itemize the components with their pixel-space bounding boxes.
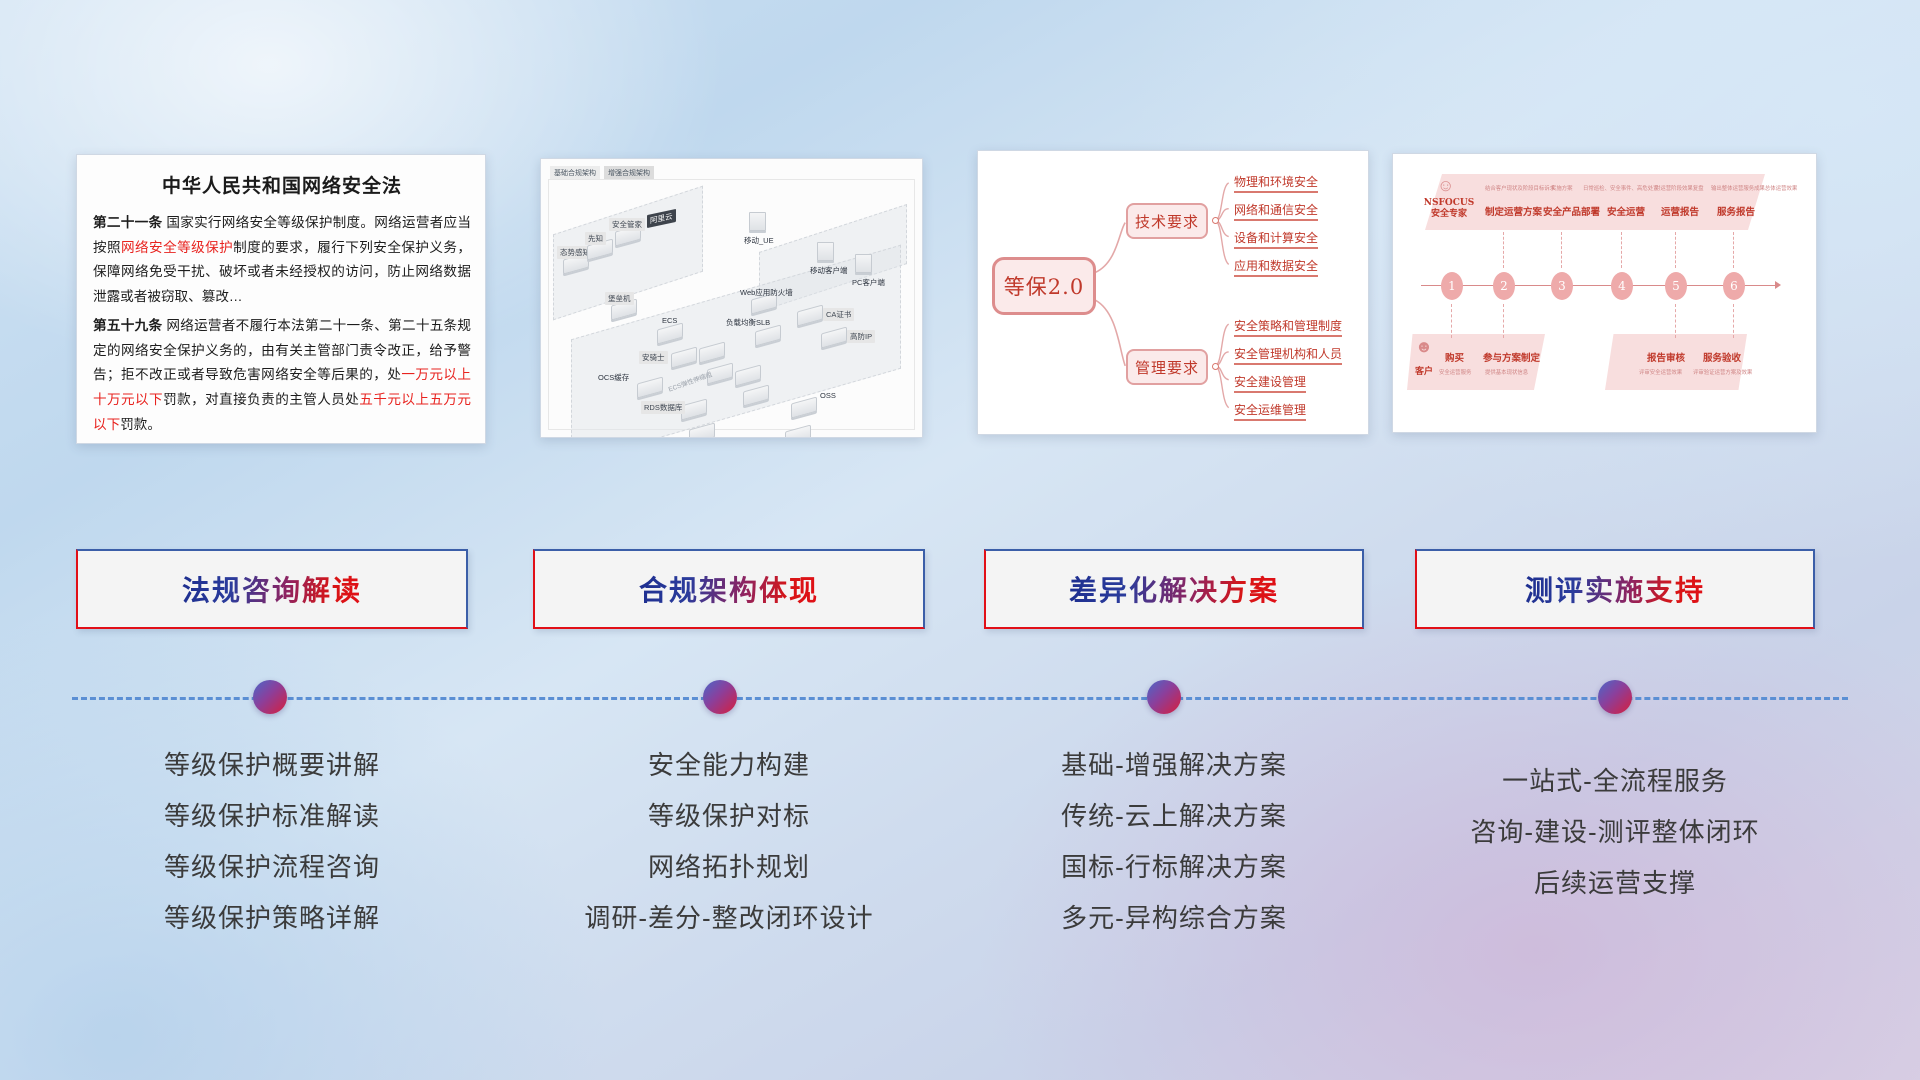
expert-person-icon: ☺	[1437, 176, 1454, 196]
bottom-item-title: 报告审核	[1647, 350, 1685, 364]
mindmap-leaf: 物理和环境安全	[1234, 173, 1318, 193]
list-item: 国标-行标解决方案	[984, 842, 1364, 893]
node-ocs-cache: OCS缓存	[637, 380, 663, 395]
list-item: 基础-增强解决方案	[984, 740, 1364, 791]
node-label: 负载均衡SLB	[723, 316, 773, 329]
customer-role-label: 客户	[1411, 364, 1437, 377]
node-rds-db: RDS数据库	[681, 402, 707, 417]
node-situational-awareness: 态势感知	[563, 256, 589, 271]
bottom-item-sub: 安全运营服务	[1439, 368, 1471, 376]
list-column-2: 安全能力构建 等级保护对标 网络拓扑规划 调研-差分-整改闭环设计	[533, 740, 925, 944]
node-cloud: 阿里云	[647, 208, 676, 226]
node-label: 移动_UE	[741, 234, 777, 247]
timeline-step: 1	[1441, 272, 1463, 300]
expert-role-label: NSFOCUS 安全专家	[1421, 198, 1477, 220]
node-waf: Web应用防火墙	[751, 296, 777, 311]
node-box	[817, 242, 834, 261]
nsfocus-canvas: ☺ NSFOCUS 安全专家 结合客户现状及阶段目标诉求 制定运营方案 实施方案…	[1393, 154, 1816, 432]
connector-tick	[1561, 232, 1562, 268]
architecture-tabs: 基础合规架构 增强合规架构	[550, 166, 654, 180]
list-column-1: 等级保护概要讲解 等级保护标准解读 等级保护流程咨询 等级保护策略详解	[76, 740, 468, 944]
pill-regulation-consulting[interactable]: 法规咨询解读	[76, 549, 468, 629]
tab-enhanced-architecture[interactable]: 增强合规架构	[604, 166, 654, 180]
pill-label: 差异化解决方案	[1069, 569, 1279, 609]
timeline-dot-1[interactable]	[253, 680, 287, 714]
bottom-item-title: 购买	[1445, 350, 1464, 364]
node-anti-ddos-ip: 高防IP	[821, 330, 847, 345]
list-item: 等级保护策略详解	[76, 893, 468, 944]
mindmap-leaf: 应用和数据安全	[1234, 257, 1318, 277]
top-item-title: 服务报告	[1717, 204, 1755, 218]
connector-tick	[1503, 232, 1504, 268]
card-mindmap: 等保2.0 技术要求 物理和环境安全 网络和通信安全 设备和计算安全 应用和数据…	[977, 150, 1369, 435]
node-ecs: ECS	[657, 326, 683, 341]
slide-canvas: 中华人民共和国网络安全法 第二十一条 国家实行网络安全等级保护制度。网络运营者应…	[0, 0, 1920, 1080]
node-label: 安全管家	[609, 218, 645, 231]
mindmap-branch-management: 管理要求	[1126, 349, 1208, 385]
mindmap-leaf: 安全建设管理	[1234, 373, 1306, 393]
cloud-label: 阿里云	[647, 209, 676, 228]
list-item: 后续运营支撑	[1415, 858, 1815, 909]
node-ecs-scaling-4	[743, 388, 769, 403]
node-vpc: VPC	[785, 428, 811, 438]
node-label: OCS缓存	[595, 371, 632, 384]
law-title: 中华人民共和国网络安全法	[93, 171, 471, 198]
article-21-highlight: 网络安全等级保护	[121, 240, 233, 255]
connector-tick	[1621, 232, 1622, 268]
tab-basic-architecture[interactable]: 基础合规架构	[550, 166, 600, 180]
node-box	[791, 397, 817, 419]
connector-tick	[1675, 304, 1676, 338]
mindmap-branch-technical: 技术要求	[1126, 203, 1208, 239]
top-item-title: 制定运营方案	[1485, 204, 1542, 218]
list-item: 等级保护概要讲解	[76, 740, 468, 791]
node-bastion-host: 堡垒机	[611, 302, 637, 317]
pill-label: 合规架构体现	[639, 569, 819, 609]
node-box	[855, 254, 872, 273]
bottom-item-title: 服务验收	[1703, 350, 1741, 364]
node-box	[749, 212, 766, 231]
node-ecs-scaling-1	[699, 345, 725, 360]
node-label: OSS	[817, 390, 839, 401]
node-label: Web应用防火墙	[737, 286, 796, 299]
connector-tick	[1451, 304, 1452, 338]
top-item-title: 运营报告	[1661, 204, 1699, 218]
article-59-text-c: 罚款。	[120, 417, 161, 432]
node-ecs-scaling-3	[735, 368, 761, 383]
expert-role-line1: NSFOCUS	[1421, 198, 1477, 209]
node-label: RDS数据库	[641, 401, 685, 414]
node-db-audit: 数据库审计	[689, 426, 715, 438]
expert-role-line2: 安全专家	[1421, 209, 1477, 220]
mindmap-collapse-dot-technical[interactable]	[1212, 217, 1219, 224]
connector-tick	[1733, 232, 1734, 268]
customer-person-icon: ☻	[1415, 337, 1433, 357]
list-item: 安全能力构建	[533, 740, 925, 791]
node-label: VPC	[759, 434, 780, 438]
law-article-21: 第二十一条 国家实行网络安全等级保护制度。网络运营者应当按照网络安全等级保护制度…	[93, 211, 471, 310]
node-label: 堡垒机	[605, 292, 634, 305]
node-label: 移动客户端	[807, 264, 851, 277]
connector-tick	[1733, 304, 1734, 338]
node-xianzhi: 先知	[587, 242, 613, 257]
card-nsfocus-timeline: ☺ NSFOCUS 安全专家 结合客户现状及阶段目标诉求 制定运营方案 实施方案…	[1392, 153, 1817, 433]
timeline-dot-3[interactable]	[1147, 680, 1181, 714]
connector-tick	[1503, 304, 1504, 338]
node-security-butler: 安全管家	[615, 228, 641, 243]
pill-label: 测评实施支持	[1525, 569, 1705, 609]
mindmap-root-node: 等保2.0	[992, 257, 1096, 315]
mindmap-leaf: 安全策略和管理制度	[1234, 317, 1342, 337]
list-item: 网络拓扑规划	[533, 842, 925, 893]
timeline-dashed-line	[72, 697, 1848, 700]
node-mobile-ue: 移动_UE	[749, 212, 766, 231]
bottom-item-sub: 评审安全运营效果	[1639, 368, 1682, 376]
mindmap-canvas: 等保2.0 技术要求 物理和环境安全 网络和通信安全 设备和计算安全 应用和数据…	[978, 151, 1368, 434]
card-architecture-diagram: 基础合规架构 增强合规架构 阿里云 态势感知 先知	[540, 158, 923, 438]
mindmap-leaf: 安全管理机构和人员	[1234, 345, 1342, 365]
pill-compliance-architecture[interactable]: 合规架构体现	[533, 549, 925, 629]
node-label: CA证书	[823, 308, 854, 321]
mindmap-collapse-dot-management[interactable]	[1212, 363, 1219, 370]
timeline-dot-2[interactable]	[703, 680, 737, 714]
top-item-sub: 对运营阶段效果复盘	[1655, 184, 1704, 192]
architecture-canvas: 基础合规架构 增强合规架构 阿里云 态势感知 先知	[541, 159, 922, 437]
list-item: 一站式-全流程服务	[1415, 756, 1815, 807]
article-59-label: 第五十九条	[93, 318, 162, 333]
list-column-3: 基础-增强解决方案 传统-云上解决方案 国标-行标解决方案 多元-异构综合方案	[984, 740, 1364, 944]
top-item-sub: 结合客户现状及阶段目标诉求	[1485, 184, 1555, 192]
list-item: 调研-差分-整改闭环设计	[533, 893, 925, 944]
article-59-text-b: 罚款，对直接负责的主管人员处	[163, 392, 359, 407]
top-item-sub: 日常巡检、安全事件、高危处置	[1583, 184, 1658, 192]
node-ca-cert: CA证书	[797, 308, 823, 323]
mindmap-leaf: 安全运维管理	[1234, 401, 1306, 421]
top-item-sub: 输出整体运营服务成果总体运营效果	[1711, 184, 1797, 192]
pill-differentiated-solution[interactable]: 差异化解决方案	[984, 549, 1364, 629]
timeline-arrow-icon	[1775, 281, 1781, 289]
node-slb: 负载均衡SLB	[755, 328, 781, 343]
timeline-dot-4[interactable]	[1598, 680, 1632, 714]
node-box	[785, 425, 811, 438]
node-label: PC客户端	[849, 276, 888, 289]
mindmap-leaf: 设备和计算安全	[1234, 229, 1318, 249]
timeline-step: 3	[1551, 272, 1573, 300]
article-21-label: 第二十一条	[93, 215, 162, 230]
timeline-step: 6	[1723, 272, 1745, 300]
list-item: 咨询-建设-测评整体闭环	[1415, 807, 1815, 858]
node-label: 先知	[585, 232, 606, 245]
top-item-sub: 实施方案	[1551, 184, 1573, 192]
node-oss: OSS	[791, 400, 817, 415]
node-label: 高防IP	[847, 330, 875, 343]
card-law-text: 中华人民共和国网络安全法 第二十一条 国家实行网络安全等级保护制度。网络运营者应…	[76, 154, 486, 444]
top-item-title: 安全运营	[1607, 204, 1645, 218]
top-item-title: 安全产品部署	[1543, 204, 1600, 218]
timeline-step: 5	[1665, 272, 1687, 300]
bottom-item-title: 参与方案制定	[1483, 350, 1540, 364]
pill-label: 法规咨询解读	[182, 569, 362, 609]
node-mobile-client: 移动客户端	[817, 242, 834, 261]
bottom-item-sub: 评审验证运营方案及效果	[1693, 368, 1752, 376]
list-item: 传统-云上解决方案	[984, 791, 1364, 842]
law-body: 中华人民共和国网络安全法 第二十一条 国家实行网络安全等级保护制度。网络运营者应…	[77, 155, 485, 444]
list-item: 等级保护标准解读	[76, 791, 468, 842]
node-pc-client: PC客户端	[855, 254, 872, 273]
pill-assessment-support[interactable]: 测评实施支持	[1415, 549, 1815, 629]
mindmap-leaf: 网络和通信安全	[1234, 201, 1318, 221]
list-column-4: 一站式-全流程服务 咨询-建设-测评整体闭环 后续运营支撑	[1415, 756, 1815, 909]
list-item: 等级保护流程咨询	[76, 842, 468, 893]
timeline-step: 2	[1493, 272, 1515, 300]
node-label: ECS	[659, 315, 680, 326]
timeline-step: 4	[1611, 272, 1633, 300]
node-label: 安骑士	[639, 351, 668, 364]
connector-tick	[1675, 232, 1676, 268]
law-article-59: 第五十九条 网络运营者不履行本法第二十一条、第二十五条规定的网络安全保护义务的，…	[93, 314, 471, 438]
node-anqishi: 安骑士	[671, 350, 697, 365]
architecture-frame: 阿里云 态势感知 先知 安全管家 堡垒机	[548, 179, 915, 430]
list-item: 等级保护对标	[533, 791, 925, 842]
list-item: 多元-异构综合方案	[984, 893, 1364, 944]
bottom-item-sub: 提供基本现状信息	[1485, 368, 1528, 376]
